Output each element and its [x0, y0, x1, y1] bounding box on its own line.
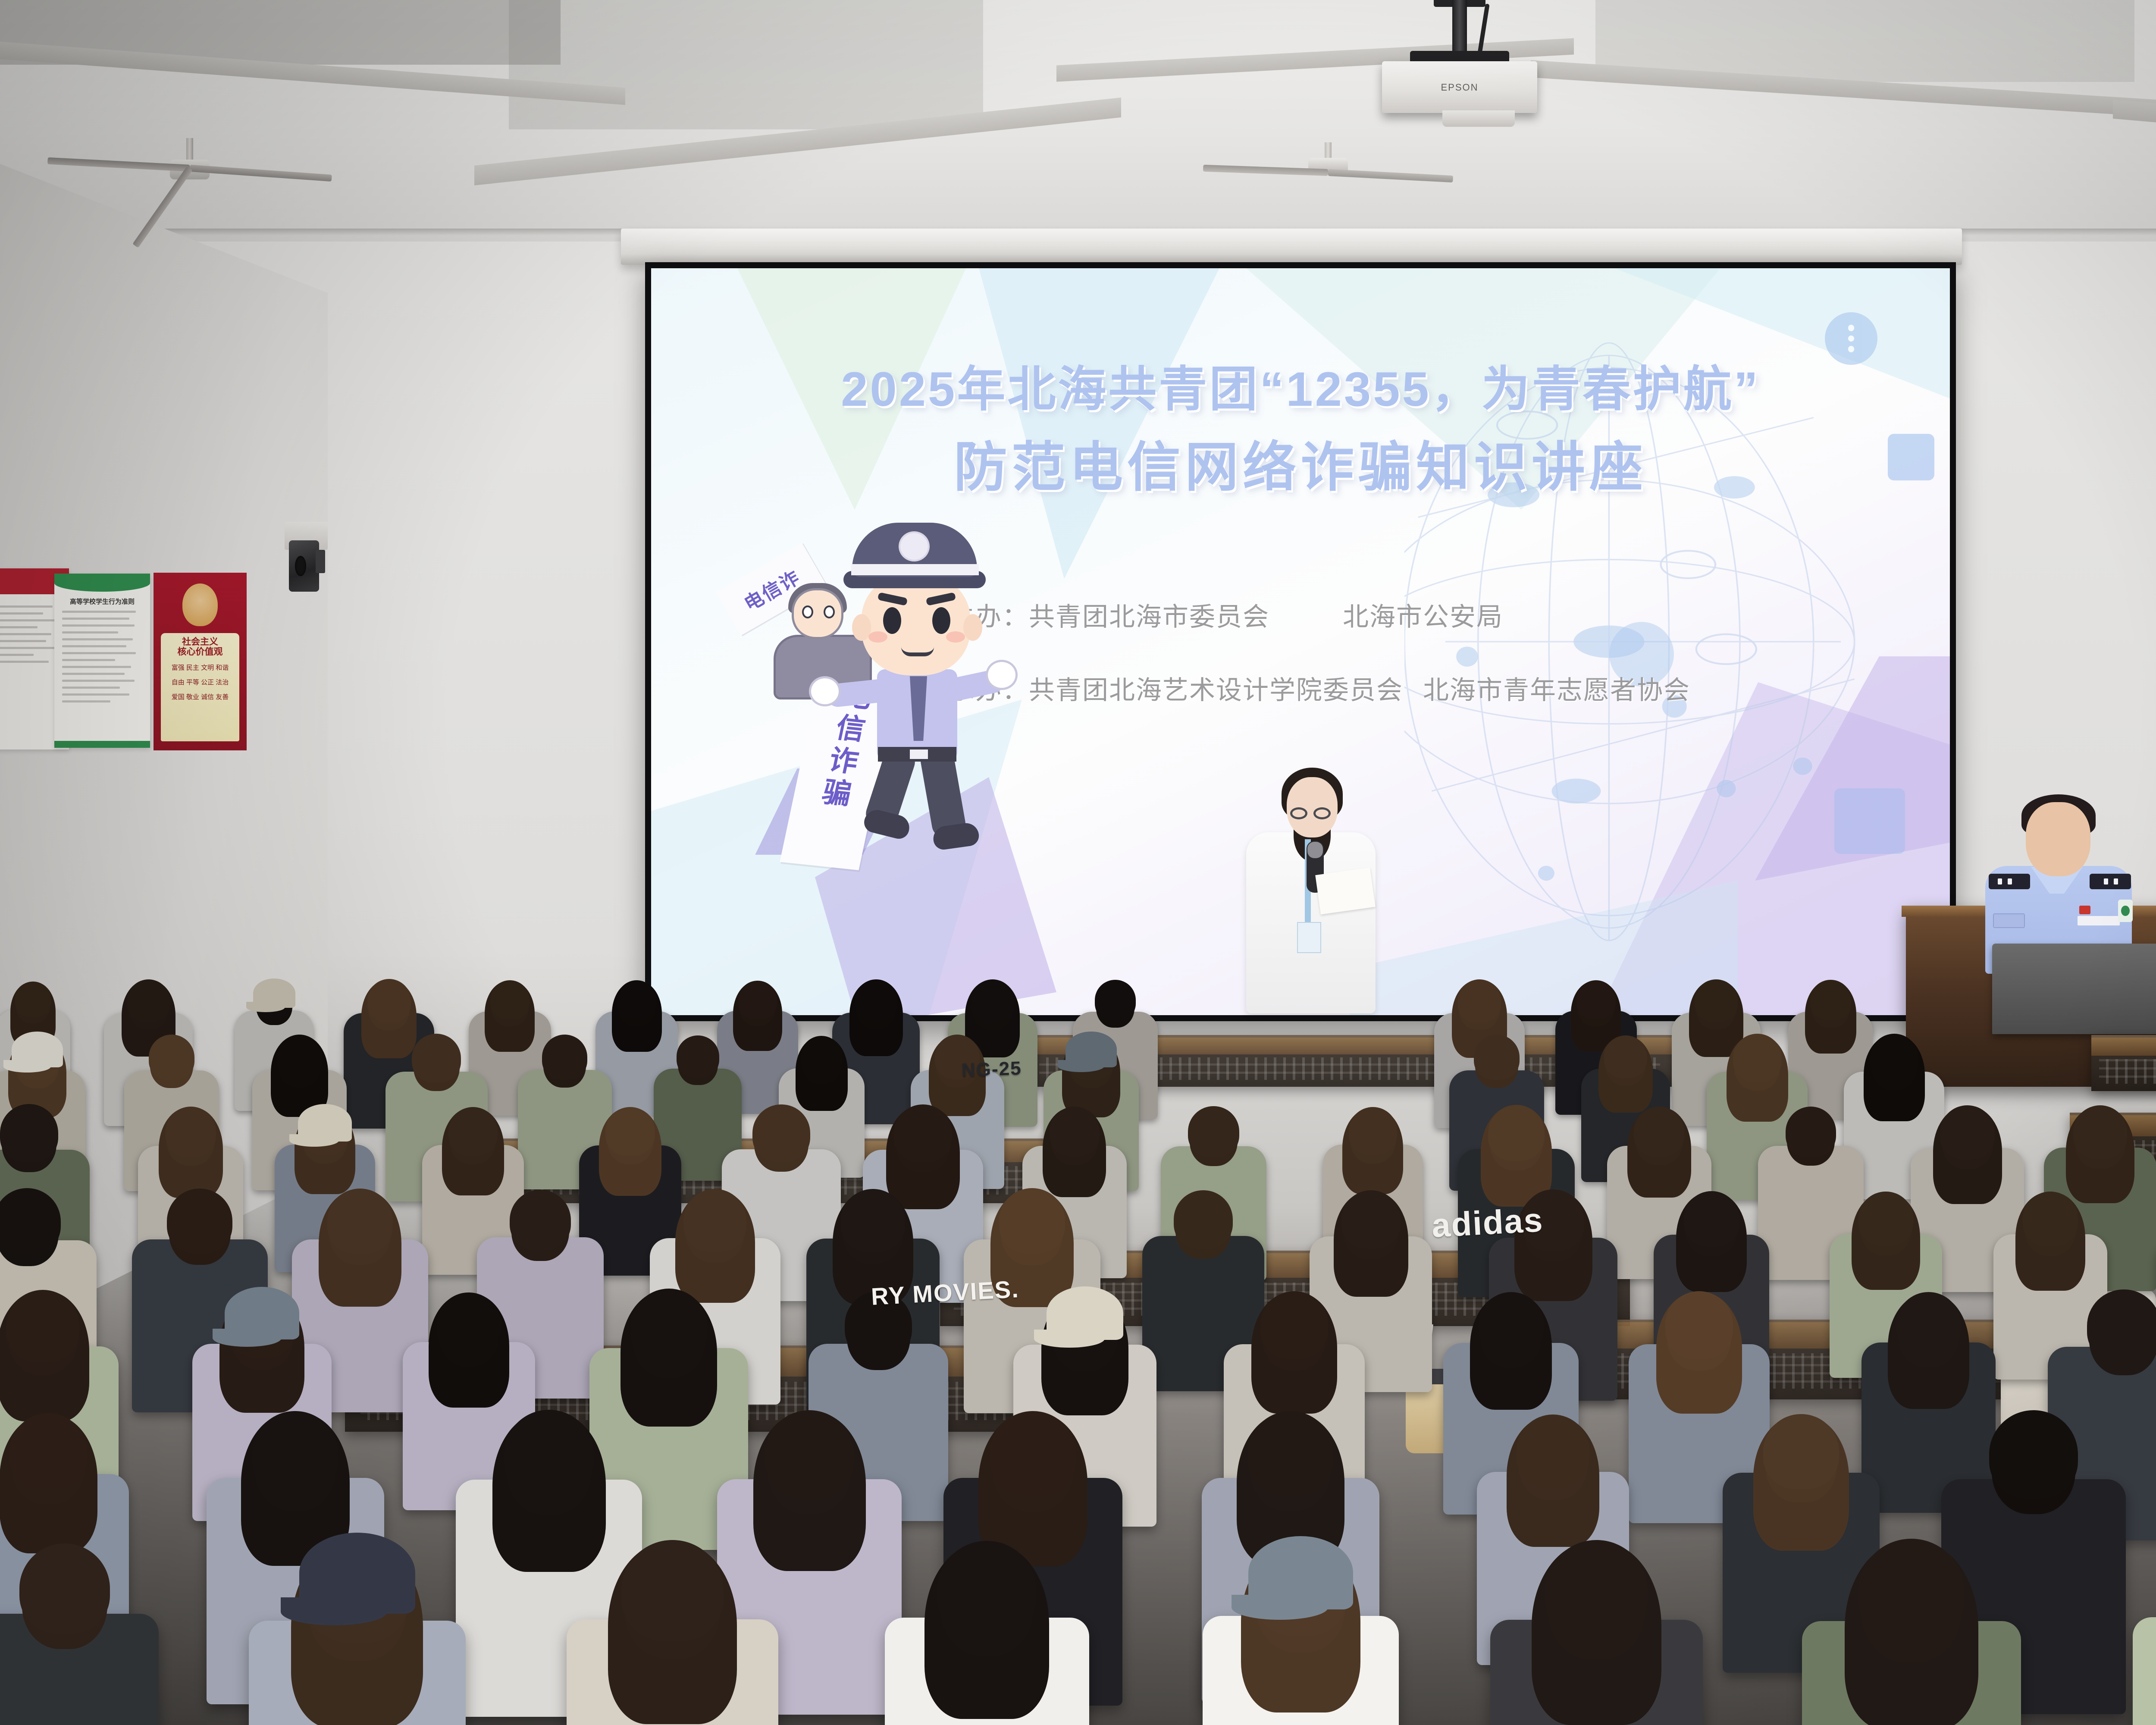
audience-member-hair: [621, 1540, 724, 1642]
audience-member-hair: [990, 1411, 1076, 1497]
baseball-cap: [253, 979, 295, 1008]
audience-member: [1490, 1531, 1703, 1725]
audience-member-hair: [677, 1035, 719, 1078]
audience-member: [0, 1535, 159, 1725]
audience-member-hair: [2087, 1289, 2156, 1362]
audience-member-hair: [841, 1189, 905, 1253]
audience-member-hair: [437, 1292, 501, 1356]
audience-member-hair: [752, 1104, 810, 1162]
audience-member-hair: [1479, 1292, 1544, 1357]
baseball-cap: [225, 1287, 299, 1339]
audience-member-hair: [2073, 1105, 2128, 1159]
audience-member-hair: [1684, 1191, 1739, 1247]
baseball-cap: [298, 1104, 352, 1142]
audience-member-hair: [801, 1036, 842, 1077]
audience-member-hair: [252, 1411, 338, 1496]
audience-member-hair: [1517, 1414, 1590, 1487]
audience-member-hair: [1576, 980, 1616, 1019]
audience-member-hair: [1174, 1190, 1232, 1249]
audience-member-hair: [0, 1104, 58, 1162]
baseball-cap: [1065, 1032, 1116, 1067]
audience-member-hair: [6, 1290, 79, 1362]
audience-member-hair: [1733, 1034, 1782, 1082]
audience-member-hair: [1940, 1105, 1995, 1160]
audience-member-hair: [1810, 980, 1851, 1020]
audience-member-hair: [1634, 1107, 1684, 1157]
audience-member-hair: [1488, 1105, 1544, 1161]
audience-member-hair: [127, 979, 170, 1022]
audience-member-hair: [1858, 1539, 1964, 1644]
audience-member-hair: [631, 1289, 707, 1364]
audience-member-hair: [1604, 1035, 1647, 1078]
audience-member-hair: [1349, 1107, 1397, 1155]
audience-member-hair: [412, 1034, 461, 1082]
baseball-cap: [12, 1032, 63, 1067]
audience-member-hair: [542, 1035, 587, 1079]
audience-member-hair: [448, 1107, 498, 1156]
audience-member-hair: [1858, 1192, 1913, 1246]
baseball-cap: [1248, 1536, 1354, 1609]
audience-member-hair: [738, 981, 777, 1019]
audience-member-hair: [1896, 1292, 1961, 1356]
audience-member-hair: [2023, 1192, 2078, 1246]
audience-member-hair: [166, 1107, 216, 1157]
audience-member-hair: [894, 1104, 952, 1162]
audience-member-hair: [149, 1035, 194, 1080]
audience-member-hair: [0, 1188, 61, 1255]
audience-member-hair: [1763, 1414, 1839, 1490]
audience-member-hair: [1458, 979, 1501, 1022]
audience-member-hair: [1050, 1107, 1100, 1157]
audience-member-hair: [1545, 1540, 1648, 1642]
audience-member-hair: [490, 980, 530, 1019]
audience-member-hair: [1870, 1034, 1918, 1082]
audience-member-hair: [510, 1190, 570, 1251]
audience-member-hair: [1474, 1035, 1520, 1080]
audience-member-hair: [1989, 1410, 2078, 1499]
audience-member-hair: [999, 1188, 1065, 1254]
baseball-cap: [1047, 1286, 1123, 1340]
audience-member: [249, 1530, 466, 1725]
audience-member-hair: [1095, 980, 1136, 1020]
audience-member-hair: [971, 979, 1014, 1022]
audience-member-hair: [1665, 1291, 1733, 1358]
audience-member-hair: [937, 1541, 1036, 1639]
audience-member-hair: [19, 1543, 110, 1634]
audience-member-hair: [1188, 1106, 1239, 1157]
audience-member: [2133, 1533, 2156, 1725]
audience-member: [885, 1532, 1089, 1725]
audience-member-hair: [1341, 1190, 1401, 1249]
apparel-text: adidas: [1431, 1200, 1545, 1245]
audience: NG-25adidasRY MOVIES.: [0, 0, 2156, 1725]
audience-member-hair: [1248, 1411, 1333, 1496]
audience-member-hair: [15, 982, 51, 1017]
audience-member: [1802, 1530, 2021, 1725]
audience-member-hair: [1786, 1107, 1836, 1157]
audience-member-hair: [167, 1189, 232, 1254]
audience-member-hair: [765, 1410, 854, 1499]
audience-member-torso: [2133, 1617, 2156, 1725]
audience-member-hair: [277, 1035, 322, 1080]
audience-member-hair: [9, 1413, 87, 1490]
audience-member-hair: [367, 979, 411, 1022]
audience-member-hair: [617, 980, 657, 1019]
audience-member-hair: [504, 1410, 594, 1499]
audience-member-hair: [1260, 1291, 1328, 1359]
audience-member-hair: [683, 1189, 746, 1251]
audience-member-hair: [605, 1107, 655, 1156]
audience-member-hair: [855, 979, 897, 1022]
baseball-cap: [299, 1533, 416, 1614]
audience-member-hair: [327, 1189, 393, 1254]
apparel-text: NG-25: [961, 1058, 1022, 1082]
audience-member-hair: [1695, 979, 1737, 1022]
lecture-hall-photo: EPSON: [0, 0, 2156, 1725]
audience-member: [567, 1531, 778, 1725]
audience-member: [1203, 1534, 1398, 1725]
